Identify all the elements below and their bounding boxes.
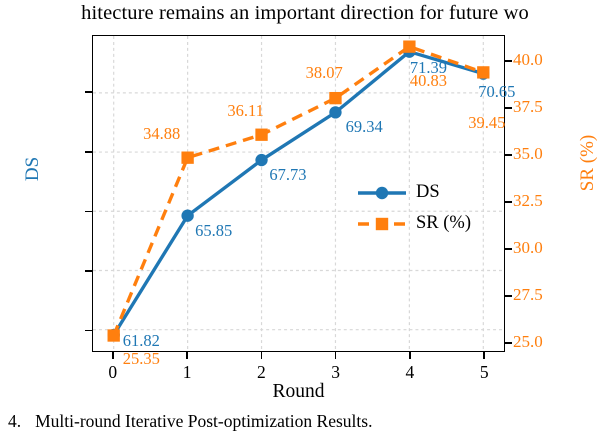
y-tick-mark-right xyxy=(505,154,512,156)
y-tick-label-right: 30.0 xyxy=(513,238,543,258)
x-tick-mark xyxy=(409,352,411,359)
y-tick-mark-right xyxy=(505,107,512,109)
x-axis-label: Round xyxy=(92,381,505,403)
sr-value-label: 25.35 xyxy=(123,349,160,369)
legend-item[interactable]: DS xyxy=(358,177,483,208)
y-tick-mark-left xyxy=(85,211,92,213)
x-tick-label: 4 xyxy=(388,362,432,383)
sr-value-label: 40.83 xyxy=(410,71,447,91)
y-tick-mark-right xyxy=(505,295,512,297)
y-tick-mark-left xyxy=(85,151,92,153)
x-tick-mark xyxy=(261,352,263,359)
x-tick-label: 1 xyxy=(165,362,209,383)
caption-number: 4. xyxy=(8,411,21,431)
legend-label: SR (%) xyxy=(416,213,471,234)
chart-legend: DSSR (%) xyxy=(358,177,483,239)
y-tick-label-right: 25.0 xyxy=(513,332,543,352)
y-tick-mark-right xyxy=(505,342,512,344)
y-tick-label-right: 40.0 xyxy=(513,50,543,70)
sr-value-label: 36.11 xyxy=(227,101,264,121)
x-tick-label: 2 xyxy=(239,362,283,383)
figure-caption: 4.Multi-round Iterative Post-optimizatio… xyxy=(0,408,610,434)
y-tick-mark-right xyxy=(505,248,512,250)
x-tick-mark xyxy=(483,352,485,359)
legend-label: DS xyxy=(416,182,440,203)
y-tick-mark-right xyxy=(505,201,512,203)
sr-value-label: 39.45 xyxy=(468,113,505,133)
legend-square-marker-icon xyxy=(358,216,406,232)
y-tick-label-right: 37.5 xyxy=(513,97,543,117)
ds-value-label: 69.34 xyxy=(346,117,383,137)
sr-value-label: 34.88 xyxy=(143,124,180,144)
x-tick-mark xyxy=(186,352,188,359)
y-tick-mark-left xyxy=(85,91,92,93)
ds-value-label: 65.85 xyxy=(195,221,232,241)
x-tick-label: 5 xyxy=(462,362,506,383)
sr-value-label: 38.07 xyxy=(306,63,343,83)
y-tick-label-right: 32.5 xyxy=(513,191,543,211)
y-tick-mark-left xyxy=(85,330,92,332)
caption-text: Multi-round Iterative Post-optimization … xyxy=(35,411,372,431)
y-tick-label-right: 27.5 xyxy=(513,285,543,305)
ds-value-label: 61.82 xyxy=(123,331,160,351)
y-axis-right-label: SR (%) xyxy=(577,118,599,208)
x-tick-mark xyxy=(335,352,337,359)
x-tick-mark xyxy=(112,352,114,359)
legend-circle-marker-icon xyxy=(358,185,406,201)
ds-value-label: 70.65 xyxy=(478,82,515,102)
y-tick-mark-left xyxy=(85,270,92,272)
chart-figure: 626466687025.027.530.032.535.037.540.001… xyxy=(0,26,610,406)
legend-item[interactable]: SR (%) xyxy=(358,208,483,239)
ds-value-label: 67.73 xyxy=(269,165,306,185)
x-tick-label: 3 xyxy=(314,362,358,383)
figure-page: hitecture remains an important direction… xyxy=(0,0,610,436)
y-tick-label-right: 35.0 xyxy=(513,144,543,164)
y-axis-left-label: DS xyxy=(22,134,44,204)
y-tick-mark-right xyxy=(505,60,512,62)
body-paragraph-fragment: hitecture remains an important direction… xyxy=(0,0,610,26)
